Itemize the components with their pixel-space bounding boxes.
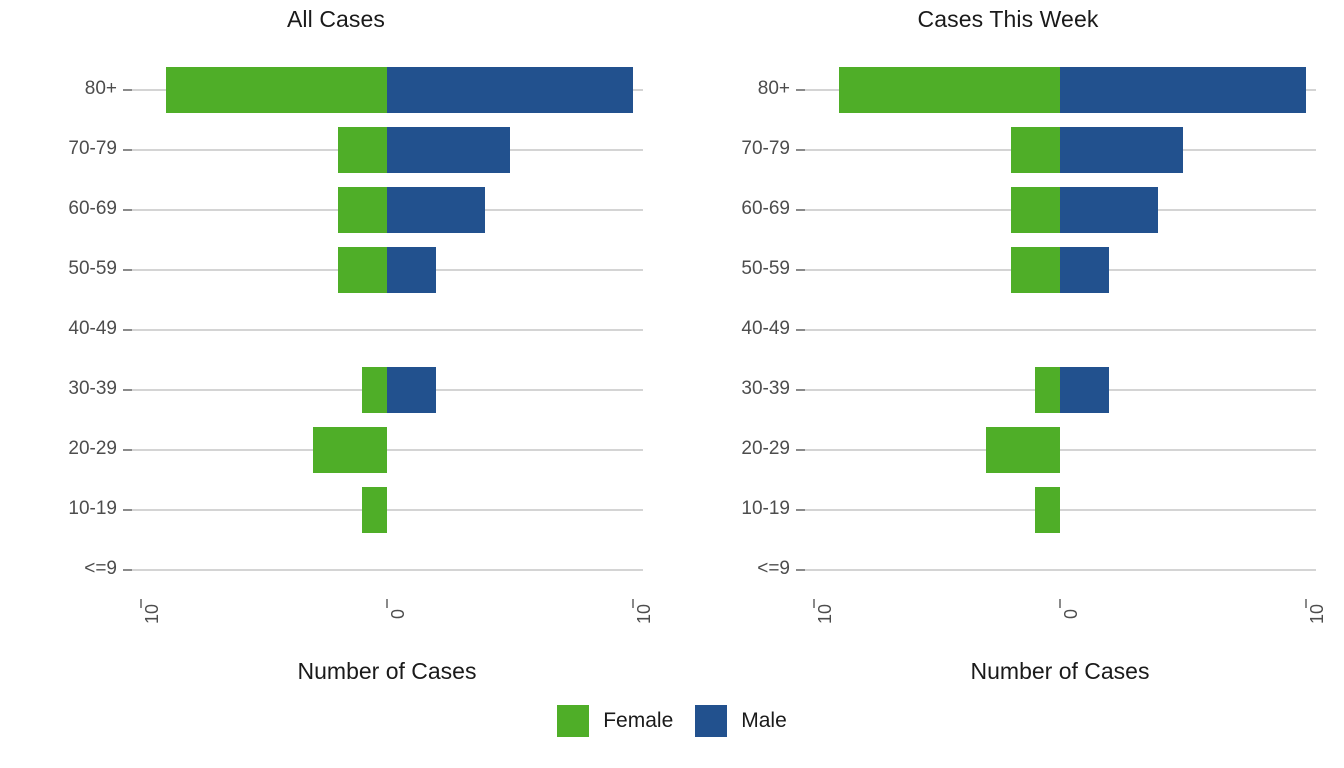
age-group-row: 70-79: [814, 120, 1306, 180]
age-group-row: 60-69: [141, 180, 633, 240]
gridline: [804, 569, 1316, 571]
y-axis-tick: [123, 449, 132, 451]
gridline: [131, 509, 643, 511]
population-pyramid-figure: All Cases80+70-7960-6950-5940-4930-3920-…: [0, 0, 1344, 768]
chart-panel-1: All Cases80+70-7960-6950-5940-4930-3920-…: [0, 0, 672, 700]
legend-item-female[interactable]: Female: [557, 705, 673, 737]
bar-male: [1060, 247, 1109, 293]
bar-male: [387, 127, 510, 173]
plot-area: 80+70-7960-6950-5940-4930-3920-2910-19<=…: [814, 60, 1306, 585]
gridline: [804, 449, 1316, 451]
y-axis-label: 80+: [758, 78, 790, 100]
bar-male: [1060, 127, 1183, 173]
bar-female: [1035, 487, 1060, 533]
bar-male: [387, 67, 633, 113]
x-axis-tick-label: 0: [1061, 594, 1082, 634]
legend-swatch-female: [557, 705, 589, 737]
panel-title: All Cases: [0, 6, 672, 33]
age-group-row: 40-49: [141, 300, 633, 360]
legend-label: Male: [741, 709, 787, 733]
y-axis-label: 10-19: [741, 498, 790, 520]
bar-female: [1011, 247, 1060, 293]
bar-male: [387, 187, 485, 233]
y-axis-tick: [123, 329, 132, 331]
y-axis-tick: [796, 209, 805, 211]
y-axis-tick: [123, 269, 132, 271]
gridline: [804, 509, 1316, 511]
plot-area: 80+70-7960-6950-5940-4930-3920-2910-19<=…: [141, 60, 633, 585]
x-axis: 10010Number of Cases: [814, 585, 1306, 665]
age-group-row: 50-59: [141, 240, 633, 300]
y-axis-tick: [123, 89, 132, 91]
y-axis-tick: [796, 449, 805, 451]
gridline: [131, 329, 643, 331]
y-axis-label: 20-29: [68, 438, 117, 460]
bar-female: [986, 427, 1060, 473]
age-group-row: 30-39: [814, 360, 1306, 420]
age-group-row: 80+: [814, 60, 1306, 120]
y-axis-label: 40-49: [741, 318, 790, 340]
y-axis-label: 70-79: [741, 138, 790, 160]
bar-female: [362, 367, 387, 413]
age-group-row: 30-39: [141, 360, 633, 420]
y-axis-label: 10-19: [68, 498, 117, 520]
y-axis-label: 80+: [85, 78, 117, 100]
chart-panel-2: Cases This Week80+70-7960-6950-5940-4930…: [672, 0, 1344, 700]
x-axis: 10010Number of Cases: [141, 585, 633, 665]
bar-female: [166, 67, 387, 113]
y-axis-tick: [123, 569, 132, 571]
legend-label: Female: [603, 709, 673, 733]
age-group-row: 10-19: [141, 480, 633, 540]
y-axis-tick: [796, 269, 805, 271]
bar-female: [1011, 187, 1060, 233]
y-axis-label: 70-79: [68, 138, 117, 160]
bar-female: [1011, 127, 1060, 173]
bar-male: [387, 247, 436, 293]
y-axis-tick: [796, 389, 805, 391]
bar-female: [338, 127, 387, 173]
legend-swatch-male: [695, 705, 727, 737]
y-axis-tick: [123, 209, 132, 211]
y-axis-label: 60-69: [741, 198, 790, 220]
gridline: [804, 329, 1316, 331]
gridline: [131, 449, 643, 451]
x-axis-title: Number of Cases: [754, 658, 1344, 685]
age-group-row: 50-59: [814, 240, 1306, 300]
bar-female: [839, 67, 1060, 113]
y-axis-label: 50-59: [68, 258, 117, 280]
x-axis-tick-label: 10: [815, 594, 836, 634]
y-axis-tick: [123, 149, 132, 151]
bar-male: [1060, 367, 1109, 413]
age-group-row: 60-69: [814, 180, 1306, 240]
age-group-row: 70-79: [141, 120, 633, 180]
y-axis-label: 30-39: [68, 378, 117, 400]
y-axis-label: 50-59: [741, 258, 790, 280]
age-group-row: 20-29: [814, 420, 1306, 480]
y-axis-label: 40-49: [68, 318, 117, 340]
y-axis-tick: [796, 569, 805, 571]
x-axis-title: Number of Cases: [81, 658, 693, 685]
y-axis-label: 60-69: [68, 198, 117, 220]
age-group-row: 10-19: [814, 480, 1306, 540]
y-axis-tick: [796, 509, 805, 511]
bar-female: [338, 247, 387, 293]
y-axis-label: <=9: [84, 558, 117, 580]
x-axis-tick-label: 10: [142, 594, 163, 634]
y-axis-tick: [123, 389, 132, 391]
bar-female: [362, 487, 387, 533]
legend-item-male[interactable]: Male: [695, 705, 787, 737]
bar-male: [1060, 67, 1306, 113]
y-axis-label: <=9: [757, 558, 790, 580]
y-axis-label: 20-29: [741, 438, 790, 460]
bar-female: [338, 187, 387, 233]
y-axis-tick: [123, 509, 132, 511]
y-axis-label: 30-39: [741, 378, 790, 400]
bar-male: [1060, 187, 1158, 233]
chart-legend: FemaleMale: [0, 705, 1344, 737]
bar-female: [1035, 367, 1060, 413]
x-axis-tick-label: 10: [1307, 594, 1328, 634]
x-axis-tick-label: 0: [388, 594, 409, 634]
y-axis-tick: [796, 329, 805, 331]
y-axis-tick: [796, 89, 805, 91]
gridline: [131, 569, 643, 571]
bar-male: [387, 367, 436, 413]
x-axis-tick-label: 10: [634, 594, 655, 634]
y-axis-tick: [796, 149, 805, 151]
age-group-row: 80+: [141, 60, 633, 120]
panel-title: Cases This Week: [672, 6, 1344, 33]
age-group-row: 40-49: [814, 300, 1306, 360]
bar-female: [313, 427, 387, 473]
age-group-row: 20-29: [141, 420, 633, 480]
